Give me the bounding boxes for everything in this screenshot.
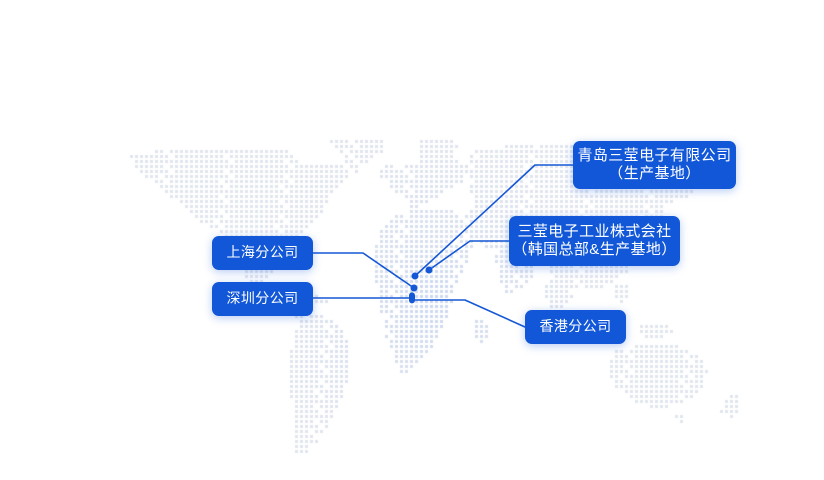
- label-shenzhen-text: 深圳分公司: [227, 290, 299, 307]
- label-korea-line2: （韩国总部&生产基地）: [512, 241, 676, 259]
- label-korea-hq[interactable]: 三莹电子工业株式会社 （韩国总部&生产基地）: [509, 216, 680, 266]
- label-shanghai-text: 上海分公司: [227, 244, 299, 261]
- label-korea-line1: 三莹电子工业株式会社: [517, 223, 671, 241]
- map-marker-qingdao: [412, 273, 419, 280]
- map-marker-shanghai: [411, 285, 418, 292]
- label-hongkong[interactable]: 香港分公司: [525, 310, 626, 344]
- label-shanghai[interactable]: 上海分公司: [212, 236, 313, 270]
- map-marker-shenzhen: [409, 292, 415, 303]
- label-hongkong-text: 香港分公司: [540, 318, 612, 335]
- map-marker-korea: [426, 267, 433, 274]
- world-dot-map: [0, 0, 824, 480]
- label-qingdao[interactable]: 青岛三莹电子有限公司 （生产基地）: [573, 141, 736, 189]
- label-shenzhen[interactable]: 深圳分公司: [212, 282, 313, 316]
- label-qingdao-line1: 青岛三莹电子有限公司: [577, 147, 731, 165]
- label-qingdao-line2: （生产基地）: [608, 165, 700, 183]
- world-map-infographic: 青岛三莹电子有限公司 （生产基地） 三莹电子工业株式会社 （韩国总部&生产基地）…: [0, 0, 824, 480]
